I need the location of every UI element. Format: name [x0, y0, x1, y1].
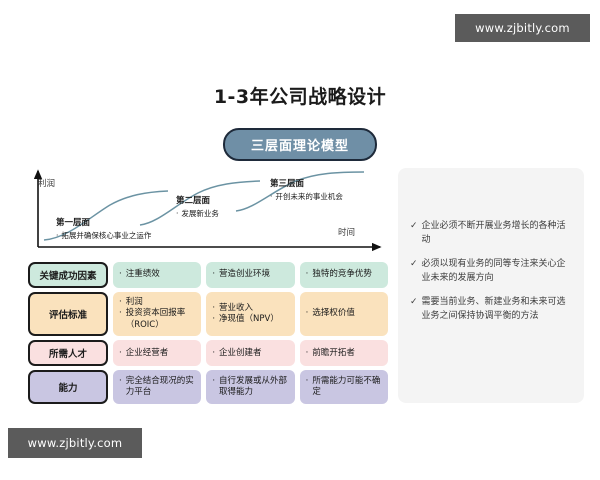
- horizon-3-desc: 开创未来的事业机会: [270, 191, 343, 202]
- check-icon: ✓: [410, 296, 418, 310]
- table-row: 关键成功因素 注重绩效 营造创业环境 独特的竞争优势: [28, 262, 388, 288]
- cell-item: 完全结合现况的实力平台: [119, 376, 195, 399]
- chart-annotation-horizon-2: 第二层面 发展新业务: [176, 194, 219, 219]
- cell-item: 独特的竞争优势: [306, 269, 382, 280]
- cell-item: 净现值（NPV）: [212, 314, 288, 325]
- table-row: 能力 完全结合现况的实力平台 自行发展或从外部取得能力 所需能力可能不确定: [28, 370, 388, 404]
- matrix-cell: 所需能力可能不确定: [300, 370, 388, 404]
- cell-item: 自行发展或从外部取得能力: [212, 376, 288, 399]
- cell-item: 营业收入: [212, 303, 288, 314]
- chart-annotation-horizon-1: 第一层面 拓展并确保核心事业之运作: [56, 216, 151, 241]
- horizon-2-title: 第二层面: [176, 194, 219, 206]
- check-icon: ✓: [410, 220, 418, 234]
- horizon-1-desc: 拓展并确保核心事业之运作: [56, 230, 151, 241]
- matrix-cell: 营造创业环境: [206, 262, 294, 288]
- note-text: 需要当前业务、新建业务和未来可选业务之间保持协调平衡的方法: [422, 296, 570, 324]
- key-points-panel: ✓ 企业必须不断开展业务增长的各种活动 ✓ 必须以现有业务的同等专注来关心企业未…: [398, 168, 584, 403]
- subtitle-badge: 三层面理论模型: [223, 128, 377, 161]
- check-icon: ✓: [410, 258, 418, 272]
- horizon-1-title: 第一层面: [56, 216, 151, 228]
- matrix-cell: 完全结合现况的实力平台: [113, 370, 201, 404]
- list-item: ✓ 需要当前业务、新建业务和未来可选业务之间保持协调平衡的方法: [410, 296, 570, 324]
- matrix-cell: 企业创建者: [206, 340, 294, 366]
- table-row: 所需人才 企业经营者 企业创建者 前瞻开拓者: [28, 340, 388, 366]
- cell-item: 所需能力可能不确定: [306, 376, 382, 399]
- matrix-cell: 独特的竞争优势: [300, 262, 388, 288]
- note-text: 必须以现有业务的同等专注来关心企业未来的发展方向: [422, 258, 570, 286]
- strategy-matrix: 关键成功因素 注重绩效 营造创业环境 独特的竞争优势 评估标准 利润 投资资本回…: [28, 262, 388, 404]
- matrix-cell: 利润 投资资本回报率（ROIC）: [113, 292, 201, 336]
- cell-item: 利润: [119, 297, 195, 308]
- cell-item: 营造创业环境: [212, 269, 288, 280]
- page-title: 1-3年公司战略设计: [0, 82, 600, 109]
- y-axis-label: 利润: [38, 177, 55, 189]
- chart-annotation-horizon-3: 第三层面 开创未来的事业机会: [270, 177, 343, 202]
- cell-item: 企业经营者: [119, 348, 195, 359]
- row-label-required-talent: 所需人才: [28, 340, 108, 366]
- matrix-cell: 注重绩效: [113, 262, 201, 288]
- matrix-cell: 前瞻开拓者: [300, 340, 388, 366]
- table-row: 评估标准 利润 投资资本回报率（ROIC） 营业收入 净现值（NPV） 选择权价…: [28, 292, 388, 336]
- horizon-3-title: 第三层面: [270, 177, 343, 189]
- list-item: ✓ 企业必须不断开展业务增长的各种活动: [410, 220, 570, 248]
- three-horizons-chart: 利润 时间 第一层面 拓展并确保核心事业之运作 第二层面 发展新业务 第三层面 …: [28, 165, 388, 260]
- x-axis-label: 时间: [338, 226, 355, 238]
- row-label-key-success-factors: 关键成功因素: [28, 262, 108, 288]
- cell-item: 选择权价值: [306, 308, 382, 319]
- matrix-cell: 营业收入 净现值（NPV）: [206, 292, 294, 336]
- watermark-bottom-left: www.zjbitly.com: [8, 428, 142, 458]
- cell-item: 前瞻开拓者: [306, 348, 382, 359]
- matrix-cell: 自行发展或从外部取得能力: [206, 370, 294, 404]
- cell-item: 注重绩效: [119, 269, 195, 280]
- matrix-cell: 企业经营者: [113, 340, 201, 366]
- watermark-top-right: www.zjbitly.com: [455, 14, 590, 42]
- matrix-cell: 选择权价值: [300, 292, 388, 336]
- horizon-2-desc: 发展新业务: [176, 208, 219, 219]
- list-item: ✓ 必须以现有业务的同等专注来关心企业未来的发展方向: [410, 258, 570, 286]
- row-label-evaluation-criteria: 评估标准: [28, 292, 108, 336]
- watermark-bottom-text: www.zjbitly.com: [28, 436, 123, 450]
- cell-item: 企业创建者: [212, 348, 288, 359]
- watermark-top-text: www.zjbitly.com: [475, 21, 570, 35]
- row-label-capability: 能力: [28, 370, 108, 404]
- cell-item: 投资资本回报率（ROIC）: [119, 308, 195, 331]
- note-text: 企业必须不断开展业务增长的各种活动: [422, 220, 570, 248]
